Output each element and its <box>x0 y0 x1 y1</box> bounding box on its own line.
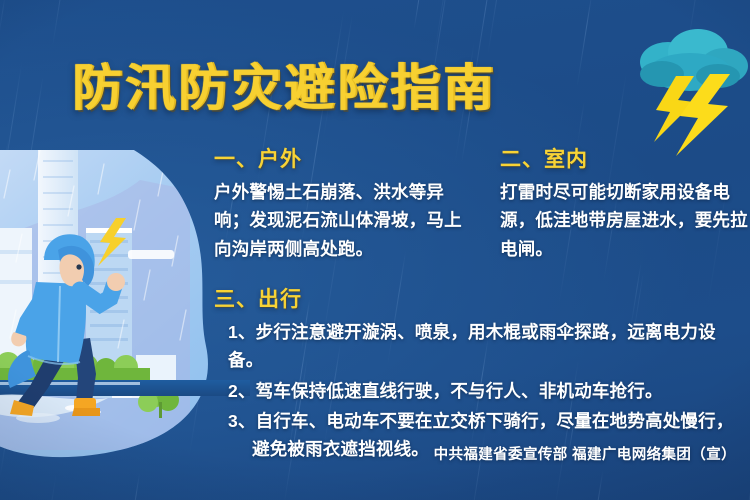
list-item: 2、驾车保持低速直线行驶，不与行人、非机动车抢行。 <box>228 377 743 405</box>
list-item-line1: 1、步行注意避开漩涡、喷泉，用木棍或雨伞探路，远离电力设备。 <box>228 322 716 370</box>
city-rain-illustration <box>0 150 250 500</box>
section-heading-outdoor: 一、户外 <box>214 143 302 173</box>
section-heading-indoor: 二、室内 <box>500 143 588 173</box>
list-item-line1: 2、驾车保持低速直线行驶，不与行人、非机动车抢行。 <box>228 381 663 401</box>
cloud-shape <box>640 29 748 91</box>
credit-attribution: 中共福建省委宣传部 福建广电网络集团（宣） <box>434 443 736 464</box>
section-body-indoor: 打雷时尽可能切断家用设备电源，低洼地带房屋进水，要先拉电闸。 <box>500 178 750 263</box>
section-heading-travel: 三、出行 <box>214 283 302 313</box>
list-item-line1: 3、自行车、电动车不要在立交桥下骑行，尽量在地势高处慢行， <box>228 411 734 431</box>
section-body-outdoor: 户外警惕土石崩落、洪水等异响；发现泥石流山体滑坡，马上向沟岸两侧高处跑。 <box>214 178 472 263</box>
page-title: 防汛防灾避险指南 <box>72 48 496 120</box>
storm-cloud-icon <box>632 18 748 158</box>
list-item: 1、步行注意避开漩涡、喷泉，用木棍或雨伞探路，远离电力设备。 <box>228 318 743 375</box>
infographic-poster: 防汛防灾避险指南 一、户外 户外警惕土石崩落、洪水等异响；发现泥石流山体滑坡，马… <box>0 0 750 500</box>
